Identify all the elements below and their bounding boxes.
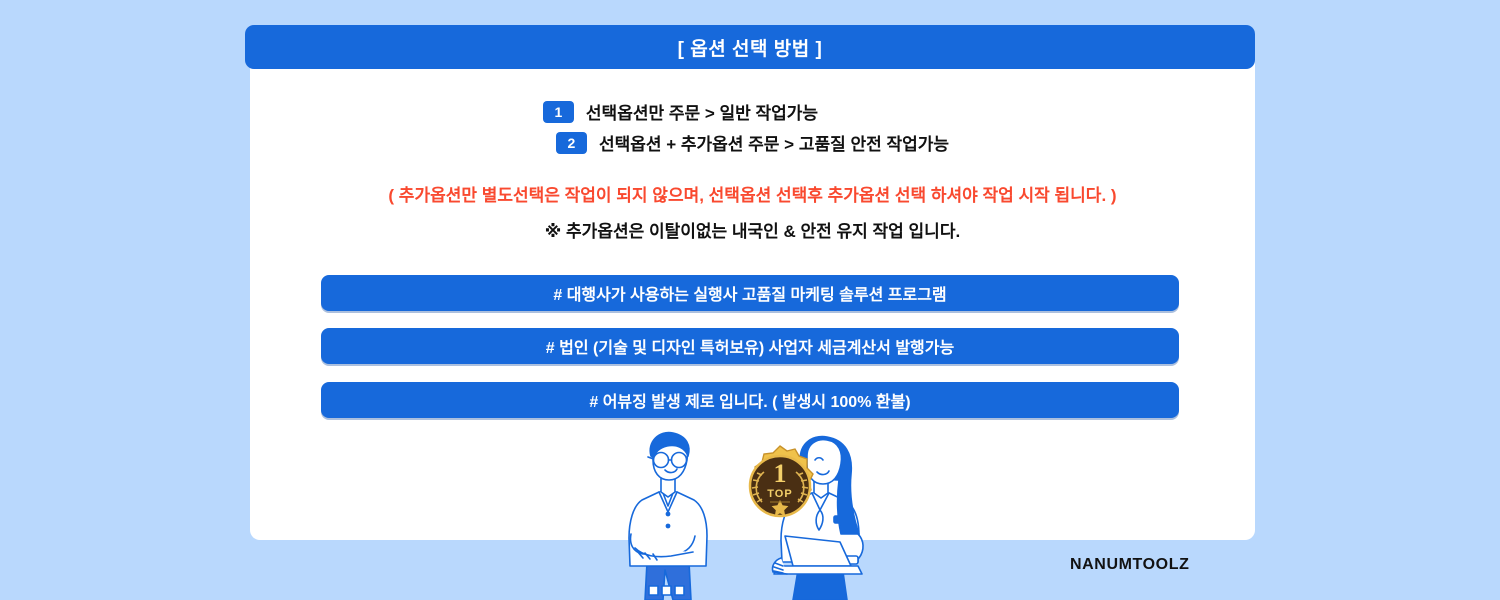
info-notice: ※ 추가옵션은 이탈이없는 내국인 & 안전 유지 작업 입니다. <box>250 217 1255 242</box>
feature-bar: # 대행사가 사용하는 실행사 고품질 마케팅 솔루션 프로그램 <box>321 275 1179 311</box>
feature-bar: # 어뷰징 발생 제로 입니다. ( 발생시 100% 환불) <box>321 382 1179 418</box>
badge-number: 1 <box>774 459 787 488</box>
page-title: [ 옵션 선택 방법 ] <box>678 34 823 61</box>
badge-label: TOP <box>767 488 792 500</box>
steps-list: 1 선택옵션만 주문 > 일반 작업가능 2 선택옵션 + 추가옵션 주문 > … <box>250 96 1255 158</box>
step-item: 1 선택옵션만 주문 > 일반 작업가능 <box>250 96 1255 127</box>
header-banner: [ 옵션 선택 방법 ] <box>245 25 1255 69</box>
warning-notice: ( 추가옵션만 별도선택은 작업이 되지 않으며, 선택옵션 선택후 추가옵션 … <box>250 181 1255 206</box>
page-root: [ 옵션 선택 방법 ] 1 선택옵션만 주문 > 일반 작업가능 2 선택옵션… <box>0 0 1500 600</box>
step-number-badge: 2 <box>556 132 587 154</box>
feature-bar: # 법인 (기술 및 디자인 특허보유) 사업자 세금계산서 발행가능 <box>321 328 1179 364</box>
step-item: 2 선택옵션 + 추가옵션 주문 > 고품질 안전 작업가능 <box>250 127 1255 158</box>
illustration: 1 TOP <box>615 430 915 600</box>
step-label: 선택옵션만 주문 > 일반 작업가능 <box>586 99 818 124</box>
step-number-badge: 1 <box>543 101 574 123</box>
step-label: 선택옵션 + 추가옵션 주문 > 고품질 안전 작업가능 <box>599 130 949 155</box>
brand-logo: NANUMTOOLZ <box>1070 556 1189 574</box>
illustration-svg: 1 TOP <box>615 430 915 600</box>
